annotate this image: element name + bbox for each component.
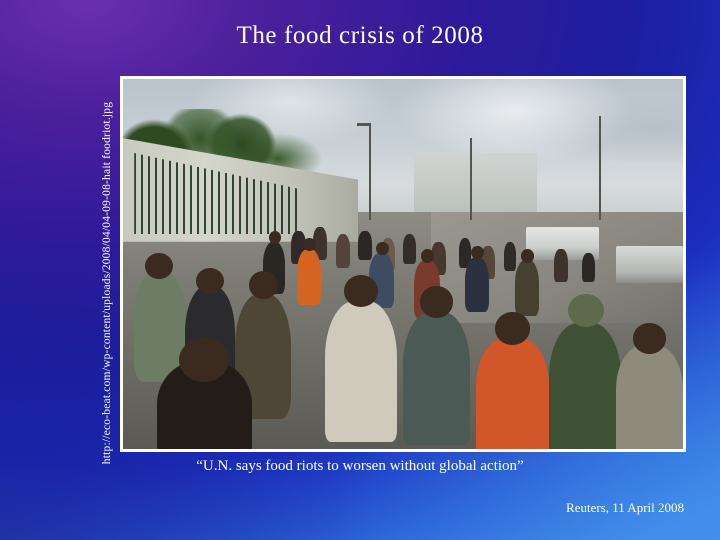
photo-person-head	[420, 286, 454, 317]
photo-person	[549, 323, 622, 452]
photo-person-head	[521, 249, 534, 262]
photo-person	[515, 260, 539, 316]
photo-person-head	[376, 242, 389, 255]
photo-person	[403, 234, 416, 264]
photo-person	[582, 253, 594, 283]
photo-person	[504, 242, 516, 272]
photo-person	[616, 345, 683, 452]
photo-caption: “U.N. says food riots to worsen without …	[0, 458, 720, 475]
photo-person	[403, 312, 470, 445]
photo-person-head	[269, 231, 281, 244]
photo-person	[336, 234, 351, 267]
page-title: The food crisis of 2008	[0, 22, 720, 50]
photo-credit: Reuters, 11 April 2008	[566, 500, 684, 516]
photo-person	[358, 231, 371, 261]
presentation-slide: The food crisis of 2008 http://eco-beat.…	[0, 0, 720, 540]
riot-photograph	[120, 76, 686, 452]
photo-person-head	[196, 268, 224, 294]
photo-person-head	[633, 323, 667, 353]
photo-person-head	[145, 253, 173, 279]
photo-person	[297, 249, 322, 305]
photo-person-head	[568, 294, 604, 327]
photo-crowd	[123, 79, 683, 449]
photo-person	[465, 257, 490, 313]
photo-person-head	[495, 312, 530, 345]
photo-person	[476, 338, 549, 452]
source-url-label: http://eco-beat.com/wp-content/uploads/2…	[101, 63, 113, 503]
photo-person-head	[344, 275, 378, 306]
photo-person-head	[471, 246, 484, 259]
photo-person	[325, 301, 398, 442]
photo-person-head	[249, 271, 278, 298]
photo-person	[554, 249, 567, 282]
